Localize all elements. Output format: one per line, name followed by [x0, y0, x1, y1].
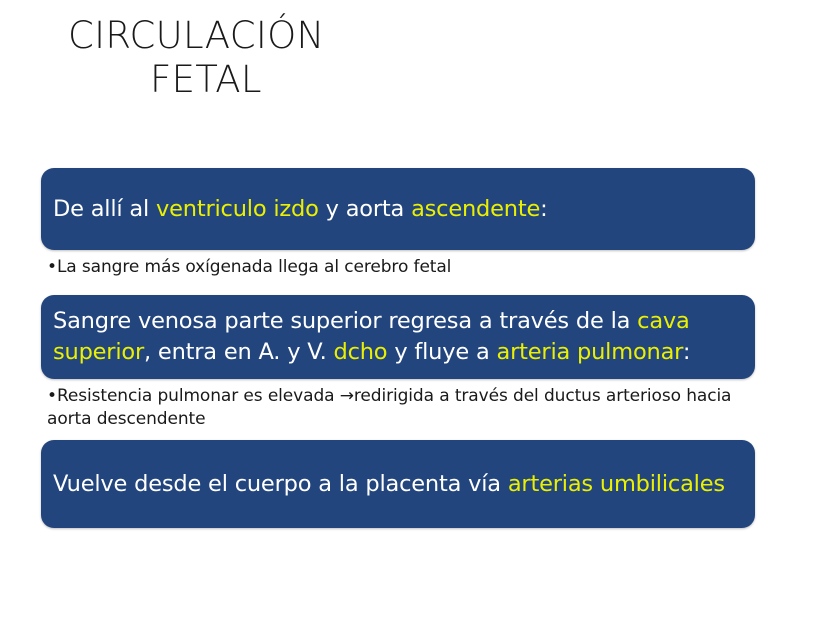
callout-box-1-text: De allí al ventriculo izdo y aorta ascen… — [53, 194, 548, 225]
page-title-line-1: CIRCULACIÓN — [0, 14, 828, 58]
callout-box-3-text: Vuelve desde el cuerpo a la placenta vía… — [53, 469, 725, 500]
highlighted-term: arteria pulmonar — [496, 339, 682, 365]
page-title-line-2: FETAL — [0, 58, 828, 102]
bullet-item-1: •La sangre más oxígenada llega al cerebr… — [47, 256, 747, 279]
callout-box-3: Vuelve desde el cuerpo a la placenta vía… — [41, 440, 755, 528]
plain-text-run: : — [540, 196, 547, 222]
plain-text-run: : — [683, 339, 690, 365]
page-title: CIRCULACIÓN FETAL — [0, 14, 828, 102]
plain-text-run: Sangre venosa parte superior regresa a t… — [53, 308, 637, 334]
highlighted-term: dcho — [333, 339, 387, 365]
highlighted-term: arterias umbilicales — [508, 471, 725, 497]
bullet-marker-icon: • — [47, 257, 57, 277]
plain-text-run: , entra en A. y V. — [144, 339, 333, 365]
plain-text-run: Vuelve desde el cuerpo a la placenta vía — [53, 471, 508, 497]
plain-text-run: De allí al — [53, 196, 156, 222]
highlighted-term: ventriculo izdo — [156, 196, 319, 222]
callout-box-2-text: Sangre venosa parte superior regresa a t… — [53, 306, 741, 368]
bullet-item-2-text: Resistencia pulmonar es elevada →redirig… — [47, 386, 731, 429]
callout-box-2: Sangre venosa parte superior regresa a t… — [41, 295, 755, 379]
bullet-item-1-text: La sangre más oxígenada llega al cerebro… — [57, 257, 451, 277]
plain-text-run: y fluye a — [387, 339, 496, 365]
bullet-marker-icon: • — [47, 386, 57, 406]
plain-text-run: y aorta — [319, 196, 411, 222]
bullet-item-2: •Resistencia pulmonar es elevada →rediri… — [47, 385, 747, 430]
highlighted-term: ascendente — [411, 196, 540, 222]
callout-box-1: De allí al ventriculo izdo y aorta ascen… — [41, 168, 755, 250]
